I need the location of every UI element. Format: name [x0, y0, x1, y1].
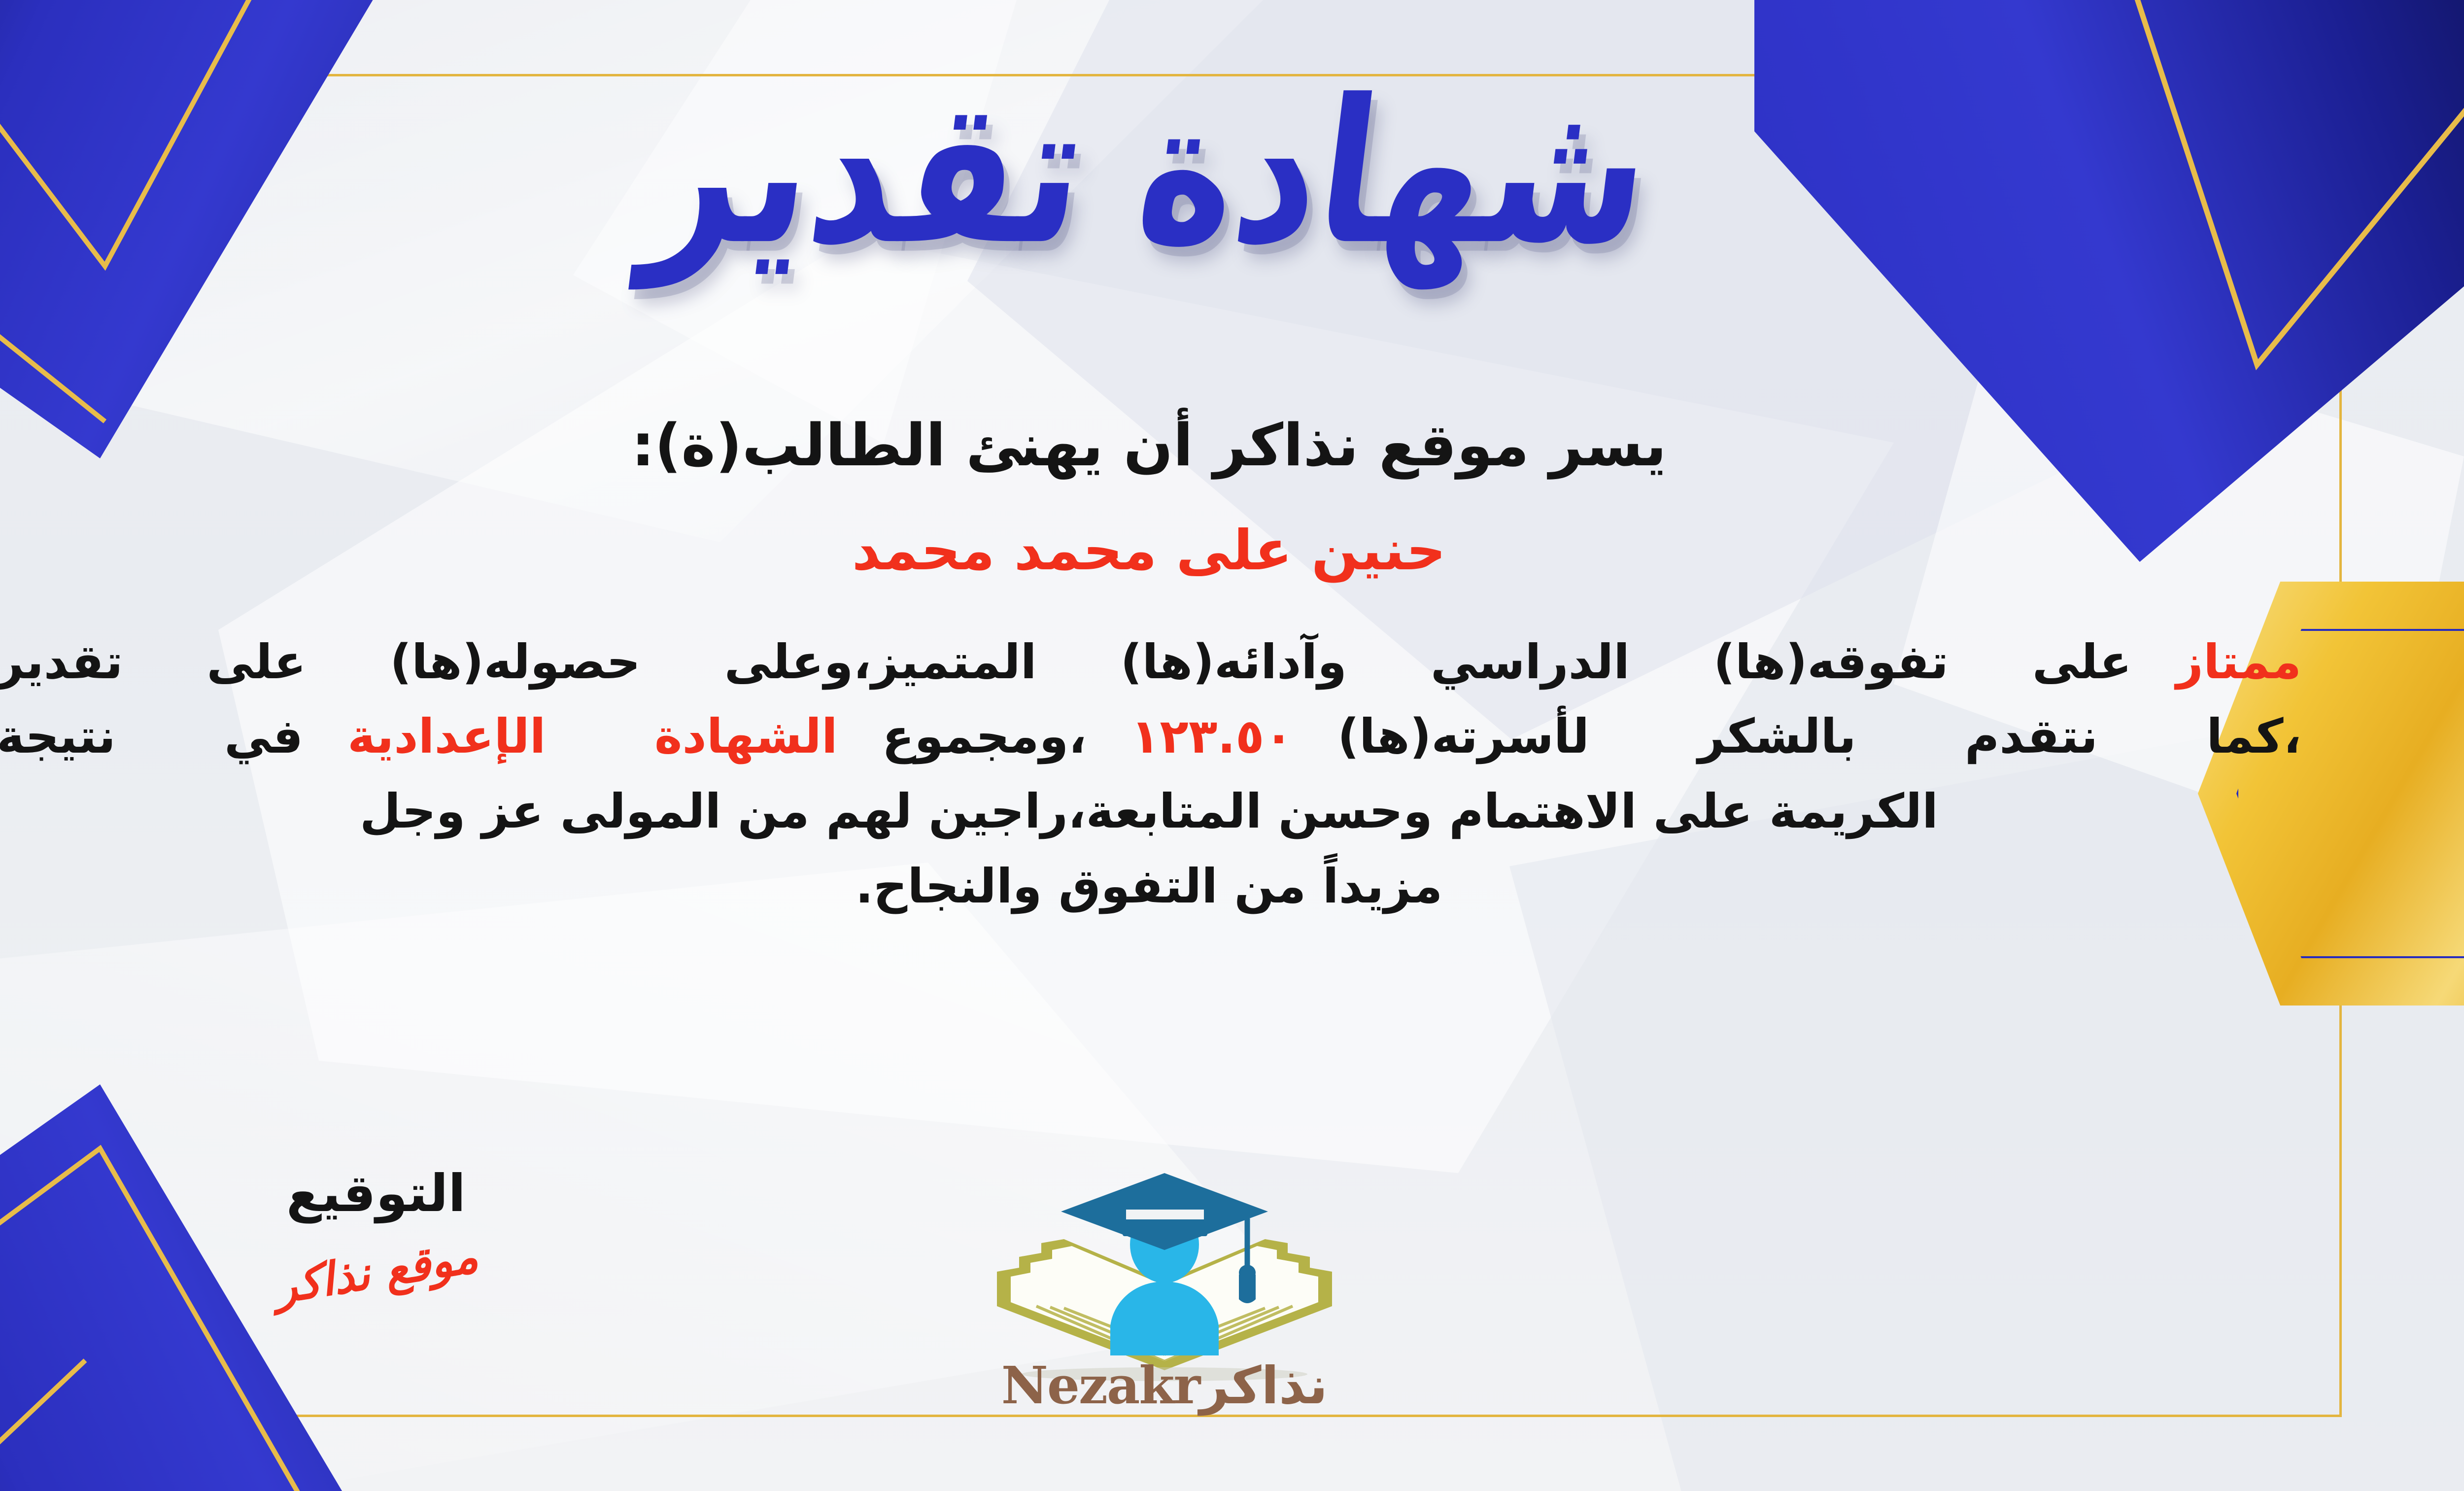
- logo-name-arabic: نذاكر: [1199, 1355, 1328, 1416]
- student-name: حنين على محمد محمد: [0, 519, 2301, 583]
- award-line-1: ممتازعلى تفوقه(ها) الدراسي وآدائه(ها) ال…: [0, 625, 2301, 700]
- award-line-2-tail: ،كما نتقدم بالشكر لأسرته(ها): [1337, 709, 2301, 764]
- signature-label: التوقيع: [218, 1163, 534, 1223]
- signature-block: التوقيع موقع نذاكر: [218, 1163, 534, 1298]
- site-logo: نذاكرNezakr: [967, 1129, 1362, 1424]
- page-title: شهادة تقدير: [637, 73, 1660, 272]
- intro-text: يسر موقع نذاكر أن يهنئ الطالب(ة):: [0, 409, 2301, 482]
- certificate-page: شهادة تقدير يسر موقع نذاكر أن يهنئ الطال…: [0, 0, 2464, 1491]
- award-line-3: الكريمة على الاهتمام وحسن المتابعة،راجين…: [0, 774, 2301, 849]
- logo-wordmark: نذاكرNezakr: [967, 1355, 1362, 1416]
- logo-name-latin: Nezakr: [1001, 1355, 1200, 1416]
- award-line-2: ،كما نتقدم بالشكر لأسرته(ها)١٢٣.٥٠،ومجمو…: [0, 699, 2301, 774]
- award-line-2-head: في نتيجة: [0, 709, 303, 764]
- title-block: شهادة تقدير: [0, 91, 2464, 254]
- award-line-1-text: على تفوقه(ها) الدراسي وآدائه(ها) المتميز…: [0, 634, 2132, 690]
- certificate-body: يسر موقع نذاكر أن يهنئ الطالب(ة): حنين ع…: [0, 409, 2301, 924]
- total-score-value: ١٢٣.٥٠: [1131, 709, 1293, 764]
- award-paragraph: ممتازعلى تفوقه(ها) الدراسي وآدائه(ها) ال…: [0, 625, 2301, 924]
- award-line-4: مزيداً من التفوق والنجاح.: [0, 849, 2301, 924]
- grade-value: ممتاز: [2176, 634, 2301, 690]
- exam-name-value: الشهادة الإعدادية: [347, 709, 838, 764]
- award-line-2-mid: ،ومجموع: [882, 709, 1087, 764]
